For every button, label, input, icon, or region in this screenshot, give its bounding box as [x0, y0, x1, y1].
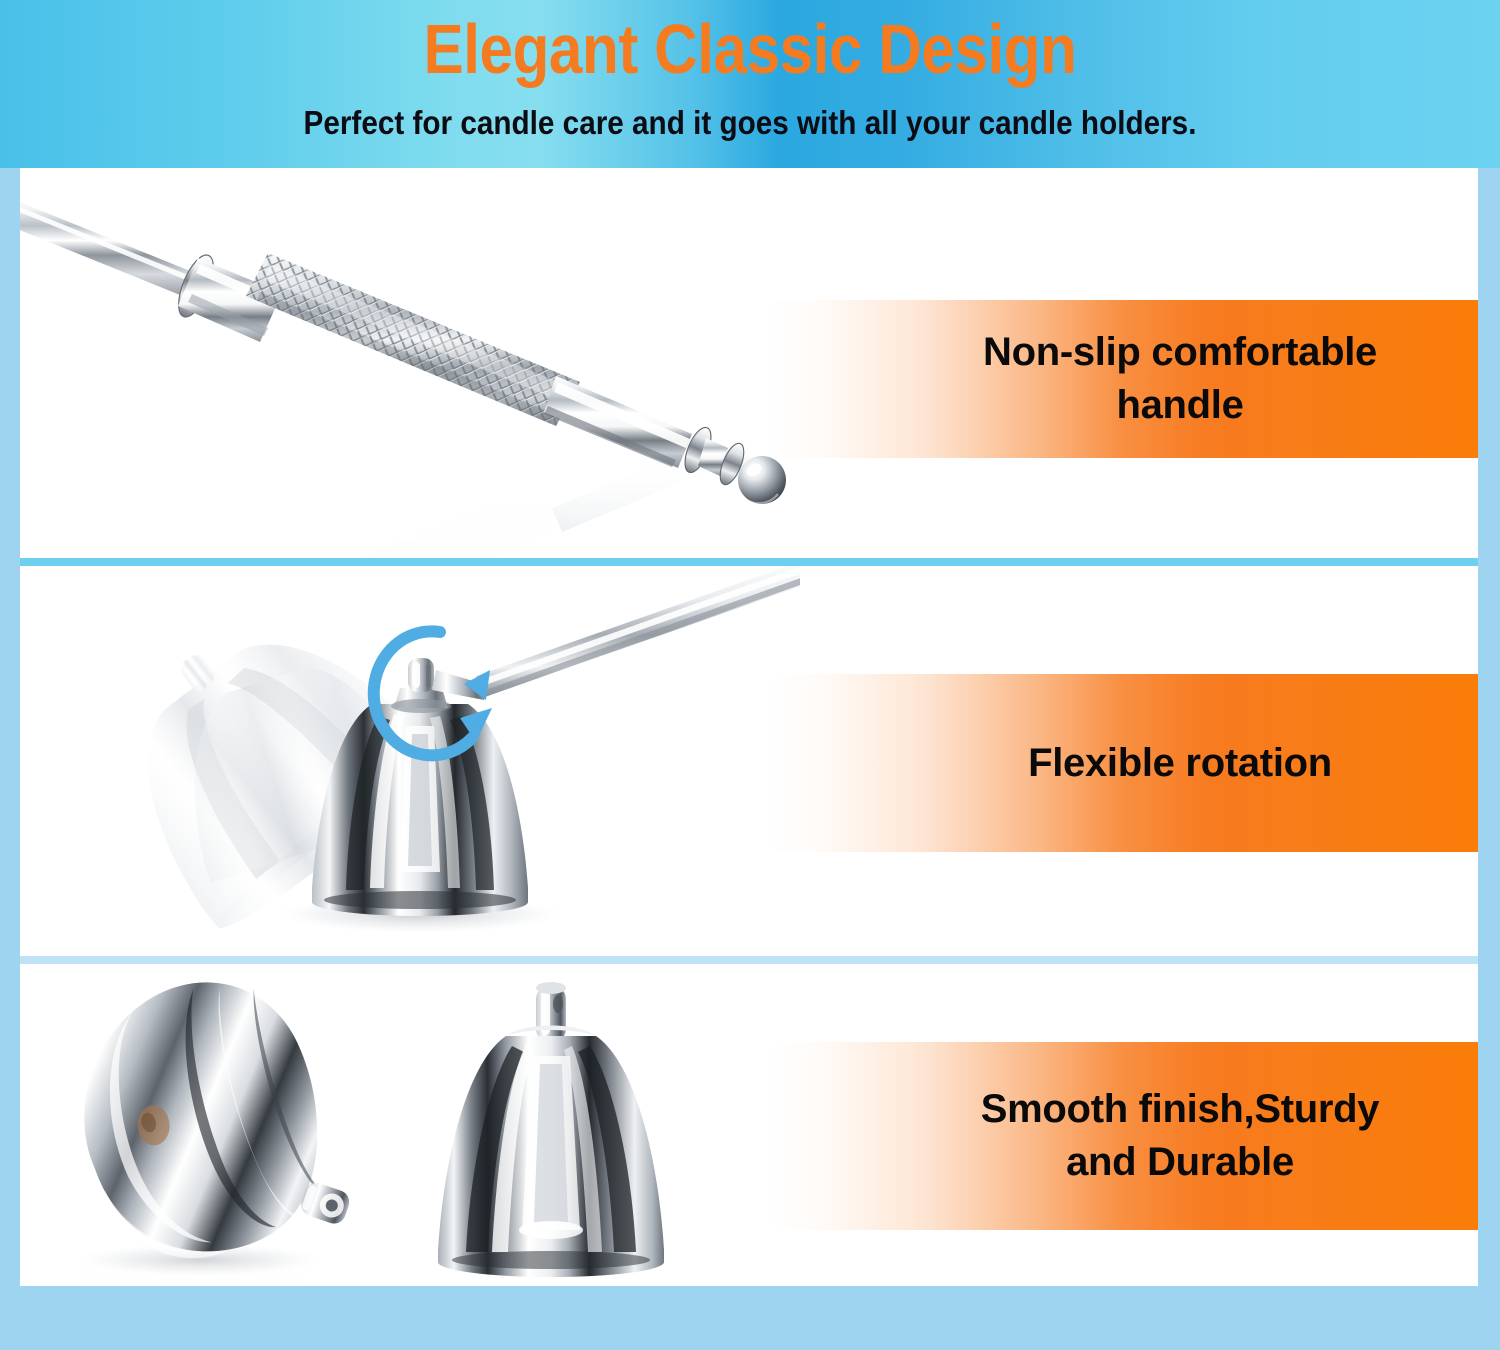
two-bells-image	[20, 964, 800, 1286]
panel-divider-1	[20, 558, 1478, 566]
caption-text-finish: Smooth finish,Sturdy and Durable	[831, 1083, 1417, 1189]
snuffer-handle-image	[20, 168, 880, 558]
feature-panel-rotation: Flexible rotation	[20, 566, 1478, 956]
header-banner: Elegant Classic Design Perfect for candl…	[0, 0, 1500, 168]
product-infographic: Elegant Classic Design Perfect for candl…	[0, 0, 1500, 1350]
caption-band-handle: Non-slip comfortable handle	[770, 300, 1478, 458]
caption-line-1: Flexible rotation	[1028, 741, 1332, 785]
panel-divider-2	[20, 956, 1478, 964]
caption-text-handle: Non-slip comfortable handle	[833, 326, 1415, 432]
bell-rotation-image	[20, 566, 800, 956]
caption-band-rotation: Flexible rotation	[770, 674, 1478, 852]
feature-panel-finish: Smooth finish,Sturdy and Durable	[20, 964, 1478, 1286]
caption-band-finish: Smooth finish,Sturdy and Durable	[770, 1042, 1478, 1230]
caption-line-1: Smooth finish,Sturdy	[981, 1087, 1379, 1131]
feature-panel-handle: Non-slip comfortable handle	[20, 168, 1478, 558]
caption-line-2: and Durable	[1066, 1140, 1294, 1184]
page-subtitle: Perfect for candle care and it goes with…	[75, 104, 1425, 142]
caption-text-rotation: Flexible rotation	[878, 737, 1370, 790]
caption-line-2: handle	[1116, 383, 1243, 427]
page-title: Elegant Classic Design	[105, 14, 1395, 84]
caption-line-1: Non-slip comfortable	[983, 330, 1377, 374]
